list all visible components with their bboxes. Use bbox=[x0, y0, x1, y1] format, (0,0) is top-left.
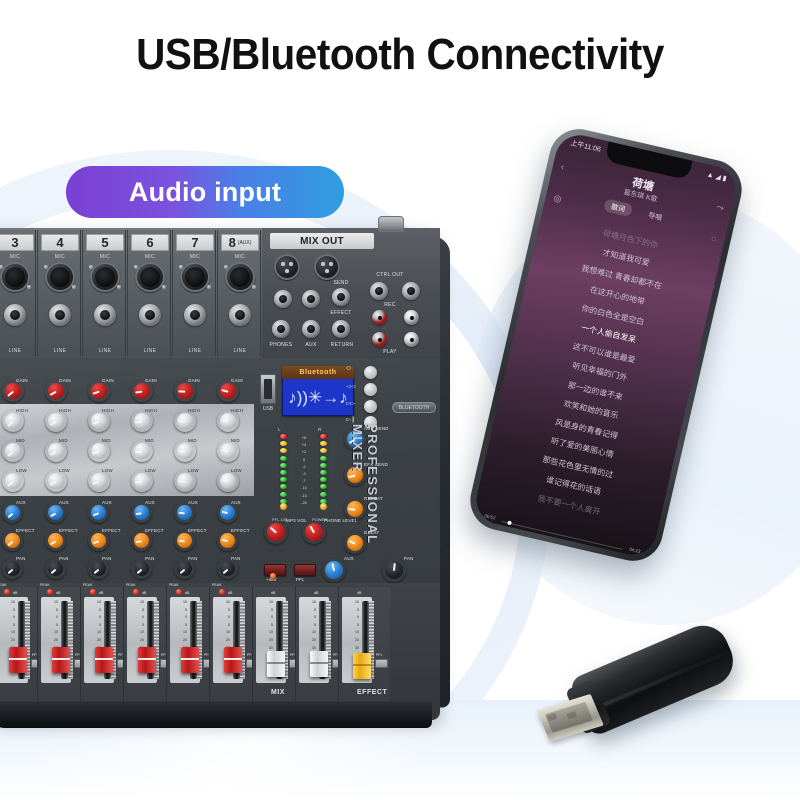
line-label: LINE bbox=[83, 348, 127, 354]
input-channel-8: 8(AUX)MICLINE bbox=[217, 230, 261, 356]
channel-fader-3-handle[interactable] bbox=[9, 647, 27, 673]
fader-db-label: dB bbox=[228, 591, 232, 595]
fader-scale-tick: 10 bbox=[85, 599, 103, 607]
knob-label-low: LOW bbox=[102, 468, 113, 473]
fader-scale-tick: 10 bbox=[257, 629, 275, 637]
bluetooth-usb-module: USB Bluetooth ♪))✳→♪ ⬭ ◅◅ ▻▻ ▻❙ BLUETOOT… bbox=[254, 358, 440, 430]
fader-scale-tick: 20 bbox=[85, 637, 103, 645]
line-input-jack[interactable] bbox=[94, 304, 116, 326]
knob-effect-channel-7[interactable] bbox=[174, 530, 195, 551]
play-icon: ▻❙ bbox=[346, 416, 356, 423]
line-label: LINE bbox=[0, 348, 37, 354]
bluetooth-brand-plate: BLUETOOTH bbox=[392, 402, 436, 413]
peak-label: PEAK bbox=[40, 583, 50, 587]
knob-effect-channel-5[interactable] bbox=[88, 530, 109, 551]
fader-db-label: dB bbox=[142, 591, 146, 595]
fader-panel: PEAKdB10505102030405060PFLPEAKdB10505102… bbox=[0, 583, 440, 705]
xlr-mic-input[interactable] bbox=[180, 262, 210, 292]
mix-fader-left-handle[interactable] bbox=[267, 651, 285, 677]
ctrl-out-jack-right[interactable] bbox=[402, 282, 420, 300]
xlr-mic-input[interactable] bbox=[225, 262, 255, 292]
vu-led bbox=[320, 434, 327, 439]
mix-out-jack-left[interactable] bbox=[274, 290, 292, 308]
vu-scale-tick: -4 bbox=[292, 470, 316, 477]
vu-scale-tick: +4 bbox=[292, 441, 316, 448]
player-tab-1[interactable]: 导唱 bbox=[640, 207, 670, 226]
line-label: LINE bbox=[128, 348, 172, 354]
lcd-title: Bluetooth bbox=[282, 366, 354, 379]
knob-label-mid: MID bbox=[231, 438, 240, 443]
knob-high-channel-4[interactable] bbox=[45, 410, 67, 432]
knob-gain-channel-7[interactable] bbox=[174, 380, 196, 402]
vu-led bbox=[280, 456, 287, 461]
power-din-connector bbox=[378, 216, 404, 232]
vu-led bbox=[280, 470, 287, 475]
knob-label-pan: PAN bbox=[102, 556, 112, 561]
line-label: LINE bbox=[173, 348, 217, 354]
channel-fader-4-handle[interactable] bbox=[52, 647, 70, 673]
usb-port-label: USB bbox=[256, 406, 280, 412]
ctrl-out-label: CTRL OUT bbox=[362, 272, 418, 278]
knob-label-gain: GAIN bbox=[16, 378, 28, 383]
fader-scale-tick: 10 bbox=[0, 629, 17, 637]
fader-scale-tick: 10 bbox=[42, 629, 60, 637]
knob-label-mid: MID bbox=[16, 438, 25, 443]
knob-label-effect: EFFECT bbox=[188, 528, 207, 533]
knob-label-pan: PAN bbox=[16, 556, 26, 561]
vu-scale-tick: +2 bbox=[292, 448, 316, 455]
knob-label-effect: EFFECT bbox=[16, 528, 35, 533]
input-channel-4: 4MICLINE bbox=[37, 230, 81, 356]
effect-send-label: EFFECT bbox=[324, 310, 358, 316]
knob-label-effect: EFFECT bbox=[145, 528, 164, 533]
knob-mid-channel-4[interactable] bbox=[45, 440, 67, 462]
xlr-mic-input[interactable] bbox=[45, 262, 75, 292]
knob-low-channel-8[interactable] bbox=[217, 470, 239, 492]
vu-scale-tick: +6 bbox=[292, 434, 316, 441]
next-icon: ▻▻ bbox=[346, 400, 355, 407]
fader-scale-tick: 0 bbox=[257, 614, 275, 622]
pfl-indicator-led bbox=[280, 503, 287, 510]
knob-effect-channel-4[interactable] bbox=[45, 530, 66, 551]
knob-mp3-vol[interactable] bbox=[264, 520, 288, 544]
knob-aux-channel-7[interactable] bbox=[174, 502, 195, 523]
vu-scale: +6+4+20-2-4-7-10-15-20 bbox=[292, 434, 316, 506]
knob-label-mid: MID bbox=[102, 438, 111, 443]
knob-label-aux: AUX bbox=[188, 500, 198, 505]
channel-number-label: 3 bbox=[0, 234, 34, 251]
knob-gain-channel-3[interactable] bbox=[2, 380, 24, 402]
fader-db-label: dB bbox=[271, 591, 275, 595]
fader-scale-tick: 20 bbox=[214, 637, 232, 645]
vu-led bbox=[280, 441, 287, 446]
fader-scale-tick: 5 bbox=[343, 622, 361, 630]
audio-input-badge: Audio input bbox=[66, 166, 344, 218]
knob-label-aux: AUX bbox=[59, 500, 69, 505]
vu-led bbox=[280, 434, 287, 439]
fader-db-label: dB bbox=[314, 591, 318, 595]
mixer-front-edge bbox=[0, 702, 432, 728]
mix-out-jack-right[interactable] bbox=[302, 290, 320, 308]
bluetooth-icon: ♪))✳→♪ bbox=[282, 379, 354, 416]
line-label: LINE bbox=[218, 348, 262, 354]
fader-db-label: dB bbox=[185, 591, 189, 595]
lcd-display: Bluetooth ♪))✳→♪ bbox=[282, 366, 354, 416]
eq-section-panel bbox=[0, 404, 254, 496]
fader-scale-tick: 5 bbox=[343, 607, 361, 615]
fader-scale-tick: 5 bbox=[128, 622, 146, 630]
fader-scale-tick: 10 bbox=[343, 599, 361, 607]
knob-aux-channel-8[interactable] bbox=[217, 502, 238, 523]
mix-out-panel: MIX OUT SEND PHONES AUX RETURN EFFECT bbox=[262, 228, 440, 358]
next-button[interactable] bbox=[364, 400, 377, 413]
knob-label-low: LOW bbox=[59, 468, 70, 473]
xlr-mic-input[interactable] bbox=[0, 262, 30, 292]
send-jack[interactable] bbox=[332, 288, 350, 306]
fader-scale-tick: 10 bbox=[300, 629, 318, 637]
knob-phone-level[interactable] bbox=[302, 520, 326, 544]
knob-label-effect: EFFECT bbox=[102, 528, 121, 533]
mix-out-xlr-left[interactable] bbox=[274, 254, 300, 280]
vu-scale-tick: -7 bbox=[292, 477, 316, 484]
vu-led bbox=[280, 463, 287, 468]
knob-pan-channel-8[interactable] bbox=[217, 558, 238, 579]
input-channel-5: 5MICLINE bbox=[82, 230, 126, 356]
fader-scale-tick: 5 bbox=[257, 622, 275, 630]
fader-scale-tick: 10 bbox=[42, 599, 60, 607]
audio-input-badge-label: Audio input bbox=[129, 177, 281, 208]
knob-pan-channel-6[interactable] bbox=[131, 558, 152, 579]
vu-scale-tick: -15 bbox=[292, 492, 316, 499]
fader-scale-tick: 20 bbox=[257, 637, 275, 645]
input-channel-3: 3MICLINE bbox=[0, 230, 36, 356]
fader-scale-tick: 5 bbox=[42, 607, 60, 615]
fader-scale-tick: 0 bbox=[300, 614, 318, 622]
knob-pan-channel-7[interactable] bbox=[174, 558, 195, 579]
knob-aux-channel-6[interactable] bbox=[131, 502, 152, 523]
vu-led bbox=[320, 492, 327, 497]
vu-led bbox=[320, 470, 327, 475]
prev-icon: ◅◅ bbox=[346, 383, 355, 390]
peak-led bbox=[90, 589, 96, 595]
line-input-jack[interactable] bbox=[184, 304, 206, 326]
channel-number-label: 5 bbox=[86, 234, 124, 251]
vu-scale-tick: 0 bbox=[292, 456, 316, 463]
mode-button[interactable] bbox=[364, 366, 377, 379]
channel-fader-7-handle[interactable] bbox=[181, 647, 199, 673]
knob-label-mid: MID bbox=[188, 438, 197, 443]
channel-number-label: 8(AUX) bbox=[221, 234, 259, 251]
knob-label-gain: GAIN bbox=[102, 378, 114, 383]
fader-scale-tick: 5 bbox=[214, 622, 232, 630]
play-rca-left[interactable] bbox=[372, 332, 387, 347]
mic-label: MIC bbox=[173, 254, 217, 260]
knob-high-channel-3[interactable] bbox=[2, 410, 24, 432]
knob-label-high: HIGH bbox=[231, 408, 243, 413]
fader-scale-tick: 10 bbox=[214, 629, 232, 637]
xlr-mic-input[interactable] bbox=[135, 262, 165, 292]
knob-low-channel-7[interactable] bbox=[174, 470, 196, 492]
vu-led bbox=[280, 477, 287, 482]
peak-led bbox=[4, 589, 10, 595]
knob-gain-channel-6[interactable] bbox=[131, 380, 153, 402]
mic-label: MIC bbox=[83, 254, 127, 260]
line-label: LINE bbox=[38, 348, 82, 354]
fader-scale-tick: 20 bbox=[0, 637, 17, 645]
mic-label: MIC bbox=[0, 254, 37, 260]
fader-db-label: dB bbox=[357, 591, 361, 595]
pfl-button-label: PFL bbox=[376, 653, 383, 657]
knob-label-pan: PAN bbox=[59, 556, 69, 561]
knob-pan[interactable] bbox=[382, 558, 406, 582]
knob-high-channel-5[interactable] bbox=[88, 410, 110, 432]
knob-mid-channel-8[interactable] bbox=[217, 440, 239, 462]
knob-label-high: HIGH bbox=[16, 408, 28, 413]
knob-label-mid: MID bbox=[145, 438, 154, 443]
send-label: SEND bbox=[324, 280, 358, 286]
knob-label-high: HIGH bbox=[188, 408, 200, 413]
knob-label-phone-level: PHONE LEVEL bbox=[324, 518, 357, 523]
knob-label-gain: GAIN bbox=[59, 378, 71, 383]
knob-gain-channel-5[interactable] bbox=[88, 380, 110, 402]
vu-header-right: R bbox=[318, 427, 321, 432]
knob-aux[interactable] bbox=[322, 558, 346, 582]
knob-label-aux: AUX bbox=[16, 500, 26, 505]
knob-high-channel-6[interactable] bbox=[131, 410, 153, 432]
mic-label: MIC bbox=[218, 254, 262, 260]
vu-scale-tick: -20 bbox=[292, 499, 316, 506]
page-title: USB/Bluetooth Connectivity bbox=[32, 30, 768, 80]
knob-label-pan: PAN bbox=[188, 556, 198, 561]
fader-scale-tick: 20 bbox=[128, 637, 146, 645]
knob-label-gain: GAIN bbox=[188, 378, 200, 383]
vu-led bbox=[280, 484, 287, 489]
knob-label-mid: MID bbox=[59, 438, 68, 443]
vu-led bbox=[320, 456, 327, 461]
fader-scale-tick: 5 bbox=[257, 607, 275, 615]
peak-label: PEAK bbox=[83, 583, 93, 587]
fader-scale-tick: 0 bbox=[343, 614, 361, 622]
vu-led bbox=[280, 492, 287, 497]
rec-rca-left[interactable] bbox=[372, 310, 387, 325]
knob-low-channel-5[interactable] bbox=[88, 470, 110, 492]
knob-mid-channel-7[interactable] bbox=[174, 440, 196, 462]
channel-number-label: 6 bbox=[131, 234, 169, 251]
knob-label-low: LOW bbox=[231, 468, 242, 473]
fader-scale-tick: 5 bbox=[300, 607, 318, 615]
vu-led bbox=[320, 463, 327, 468]
knob-label-low: LOW bbox=[16, 468, 27, 473]
vu-led bbox=[280, 448, 287, 453]
status-time: 上午11:06 bbox=[569, 138, 601, 155]
knob-label-pan: PAN bbox=[231, 556, 241, 561]
knob-label-high: HIGH bbox=[102, 408, 114, 413]
fader-scale-tick: 10 bbox=[214, 599, 232, 607]
knob-label-effect: EFFECT bbox=[231, 528, 250, 533]
channel-fader-6-handle[interactable] bbox=[138, 647, 156, 673]
fader-scale-tick: 5 bbox=[85, 622, 103, 630]
fader-scale-tick: 20 bbox=[343, 637, 361, 645]
fader-scale-tick: 10 bbox=[257, 599, 275, 607]
knob-pan-channel-4[interactable] bbox=[45, 558, 66, 579]
knob-gain-channel-4[interactable] bbox=[45, 380, 67, 402]
fader-scale-tick: 10 bbox=[128, 599, 146, 607]
line-input-jack[interactable] bbox=[139, 304, 161, 326]
knob-effect-channel-6[interactable] bbox=[131, 530, 152, 551]
ctrl-out-jack-left[interactable] bbox=[370, 282, 388, 300]
prev-button[interactable] bbox=[364, 383, 377, 396]
knob-label-aux: AUX bbox=[102, 500, 112, 505]
vu-led bbox=[320, 484, 327, 489]
audio-mixer: 3MICLINE4MICLINE5MICLINE6MICLINE7MICLINE… bbox=[0, 228, 454, 738]
fader-scale-tick: 10 bbox=[0, 599, 17, 607]
album-icon[interactable]: ◎ bbox=[552, 193, 562, 205]
peak-label: PEAK bbox=[126, 583, 136, 587]
knob-high-channel-7[interactable] bbox=[174, 410, 196, 432]
effect-fader-handle[interactable] bbox=[353, 653, 371, 679]
knob-label-pan: PAN bbox=[145, 556, 155, 561]
switch-label-pfl: PFL bbox=[296, 577, 304, 582]
fader-scale-tick: 10 bbox=[128, 629, 146, 637]
fader-scale-tick: 0 bbox=[42, 614, 60, 622]
knob-pan-channel-5[interactable] bbox=[88, 558, 109, 579]
knob-label-effect: EFFECT bbox=[59, 528, 78, 533]
fader-db-label: dB bbox=[13, 591, 17, 595]
channel-fader-8-handle[interactable] bbox=[224, 647, 242, 673]
mix-out-title: MIX OUT bbox=[270, 233, 374, 249]
fader-scale-tick: 0 bbox=[85, 614, 103, 622]
fader-scale-tick: 5 bbox=[300, 622, 318, 630]
knob-label-aux: AUX bbox=[145, 500, 155, 505]
play-label: PLAY bbox=[362, 349, 418, 355]
line-input-jack[interactable] bbox=[4, 304, 26, 326]
rec-label: REC bbox=[362, 302, 418, 308]
mixer-chassis: 3MICLINE4MICLINE5MICLINE6MICLINE7MICLINE… bbox=[0, 228, 440, 720]
knob-high-channel-8[interactable] bbox=[217, 410, 239, 432]
knob-label-aux: AUX bbox=[344, 556, 354, 561]
fader-scale-tick: 0 bbox=[0, 614, 17, 622]
phantom-power-led bbox=[270, 573, 276, 579]
knob-effect-channel-3[interactable] bbox=[2, 530, 23, 551]
power-indicator-led bbox=[320, 503, 327, 510]
fader-scale-tick: 30 bbox=[343, 645, 361, 653]
vu-scale-tick: -10 bbox=[292, 484, 316, 491]
return-jack[interactable] bbox=[332, 320, 350, 338]
effect-fader-strip: dB10505102030405060PFLEFFECT bbox=[338, 587, 390, 701]
aux-jack[interactable] bbox=[302, 320, 320, 338]
return-label: RETURN bbox=[322, 342, 362, 348]
knob-low-channel-3[interactable] bbox=[2, 470, 24, 492]
peak-label: PEAK bbox=[212, 583, 222, 587]
progress-current-time: 00:52 bbox=[484, 513, 496, 520]
pfl-button[interactable] bbox=[375, 659, 388, 668]
knob-aux-channel-5[interactable] bbox=[88, 502, 109, 523]
peak-led bbox=[133, 589, 139, 595]
phones-jack[interactable] bbox=[272, 320, 290, 338]
rec-rca-right[interactable] bbox=[404, 310, 419, 325]
fader-scale-tick: 10 bbox=[343, 629, 361, 637]
vu-led bbox=[320, 477, 327, 482]
fader-scale-tick: 5 bbox=[0, 607, 17, 615]
fader-db-label: dB bbox=[56, 591, 60, 595]
fader-scale-tick: 5 bbox=[85, 607, 103, 615]
knob-label-high: HIGH bbox=[59, 408, 71, 413]
vu-led bbox=[320, 441, 327, 446]
fader-scale-tick: 0 bbox=[171, 614, 189, 622]
knob-label-low: LOW bbox=[145, 468, 156, 473]
product-marketing-image: USB/Bluetooth Connectivity Audio input 3… bbox=[0, 0, 800, 800]
peak-label: PEAK bbox=[169, 583, 179, 587]
vu-column-left bbox=[280, 434, 289, 506]
player-tab-0[interactable]: 歌词 bbox=[603, 198, 633, 217]
fader-scale-tick: 0 bbox=[128, 614, 146, 622]
fader-section-label: MIX bbox=[271, 689, 285, 696]
line-input-jack[interactable] bbox=[49, 304, 71, 326]
fader-scale-tick: 10 bbox=[171, 599, 189, 607]
knob-effect-channel-8[interactable] bbox=[217, 530, 238, 551]
play-rca-right[interactable] bbox=[404, 332, 419, 347]
knob-mid-channel-6[interactable] bbox=[131, 440, 153, 462]
peak-label: PEAK bbox=[0, 583, 7, 587]
brand-text: PROFESSIONAL MIXER bbox=[360, 424, 380, 544]
knob-low-channel-4[interactable] bbox=[45, 470, 67, 492]
channel-fader-5-handle[interactable] bbox=[95, 647, 113, 673]
fader-scale-tick: 5 bbox=[171, 607, 189, 615]
peak-led bbox=[176, 589, 182, 595]
fader-scale-tick: 5 bbox=[128, 607, 146, 615]
mix-out-xlr-right[interactable] bbox=[314, 254, 340, 280]
knob-label-low: LOW bbox=[188, 468, 199, 473]
fader-scale-tick: 10 bbox=[85, 629, 103, 637]
vu-header-left: L bbox=[278, 427, 281, 432]
mic-label: MIC bbox=[38, 254, 82, 260]
mode-icon: ⬭ bbox=[346, 366, 351, 373]
xlr-mic-input[interactable] bbox=[90, 262, 120, 292]
channel-number-label: 4 bbox=[41, 234, 79, 251]
fader-scale-tick: 20 bbox=[300, 637, 318, 645]
fader-scale-tick: 20 bbox=[42, 637, 60, 645]
fader-scale-tick: 10 bbox=[300, 599, 318, 607]
vu-column-right bbox=[320, 434, 329, 506]
vu-led bbox=[320, 448, 327, 453]
fader-scale-tick: 20 bbox=[171, 637, 189, 645]
input-channel-panel: 3MICLINE4MICLINE5MICLINE6MICLINE7MICLINE… bbox=[0, 228, 262, 358]
line-input-jack[interactable] bbox=[229, 304, 251, 326]
switch-pfl[interactable] bbox=[294, 564, 316, 576]
knob-aux-channel-4[interactable] bbox=[45, 502, 66, 523]
knob-label-aux: AUX bbox=[231, 500, 241, 505]
knob-low-channel-6[interactable] bbox=[131, 470, 153, 492]
fader-scale-tick: 5 bbox=[171, 622, 189, 630]
knob-mid-channel-3[interactable] bbox=[2, 440, 24, 462]
knob-label-gain: GAIN bbox=[231, 378, 243, 383]
knob-label-high: HIGH bbox=[145, 408, 157, 413]
input-channel-7: 7MICLINE bbox=[172, 230, 216, 356]
knob-mid-channel-5[interactable] bbox=[88, 440, 110, 462]
fader-scale-tick: 5 bbox=[42, 622, 60, 630]
knob-aux-channel-3[interactable] bbox=[2, 502, 23, 523]
knob-pan-channel-3[interactable] bbox=[2, 558, 23, 579]
peak-led bbox=[47, 589, 53, 595]
fader-scale-tick: 10 bbox=[171, 629, 189, 637]
fader-scale-tick: 5 bbox=[0, 622, 17, 630]
channel-number-label: 7 bbox=[176, 234, 214, 251]
mix-fader-right-handle[interactable] bbox=[310, 651, 328, 677]
progress-total-time: 04:13 bbox=[629, 547, 641, 554]
knob-gain-channel-8[interactable] bbox=[217, 380, 239, 402]
fader-scale-tick: 0 bbox=[214, 614, 232, 622]
usb-port[interactable] bbox=[260, 374, 276, 404]
